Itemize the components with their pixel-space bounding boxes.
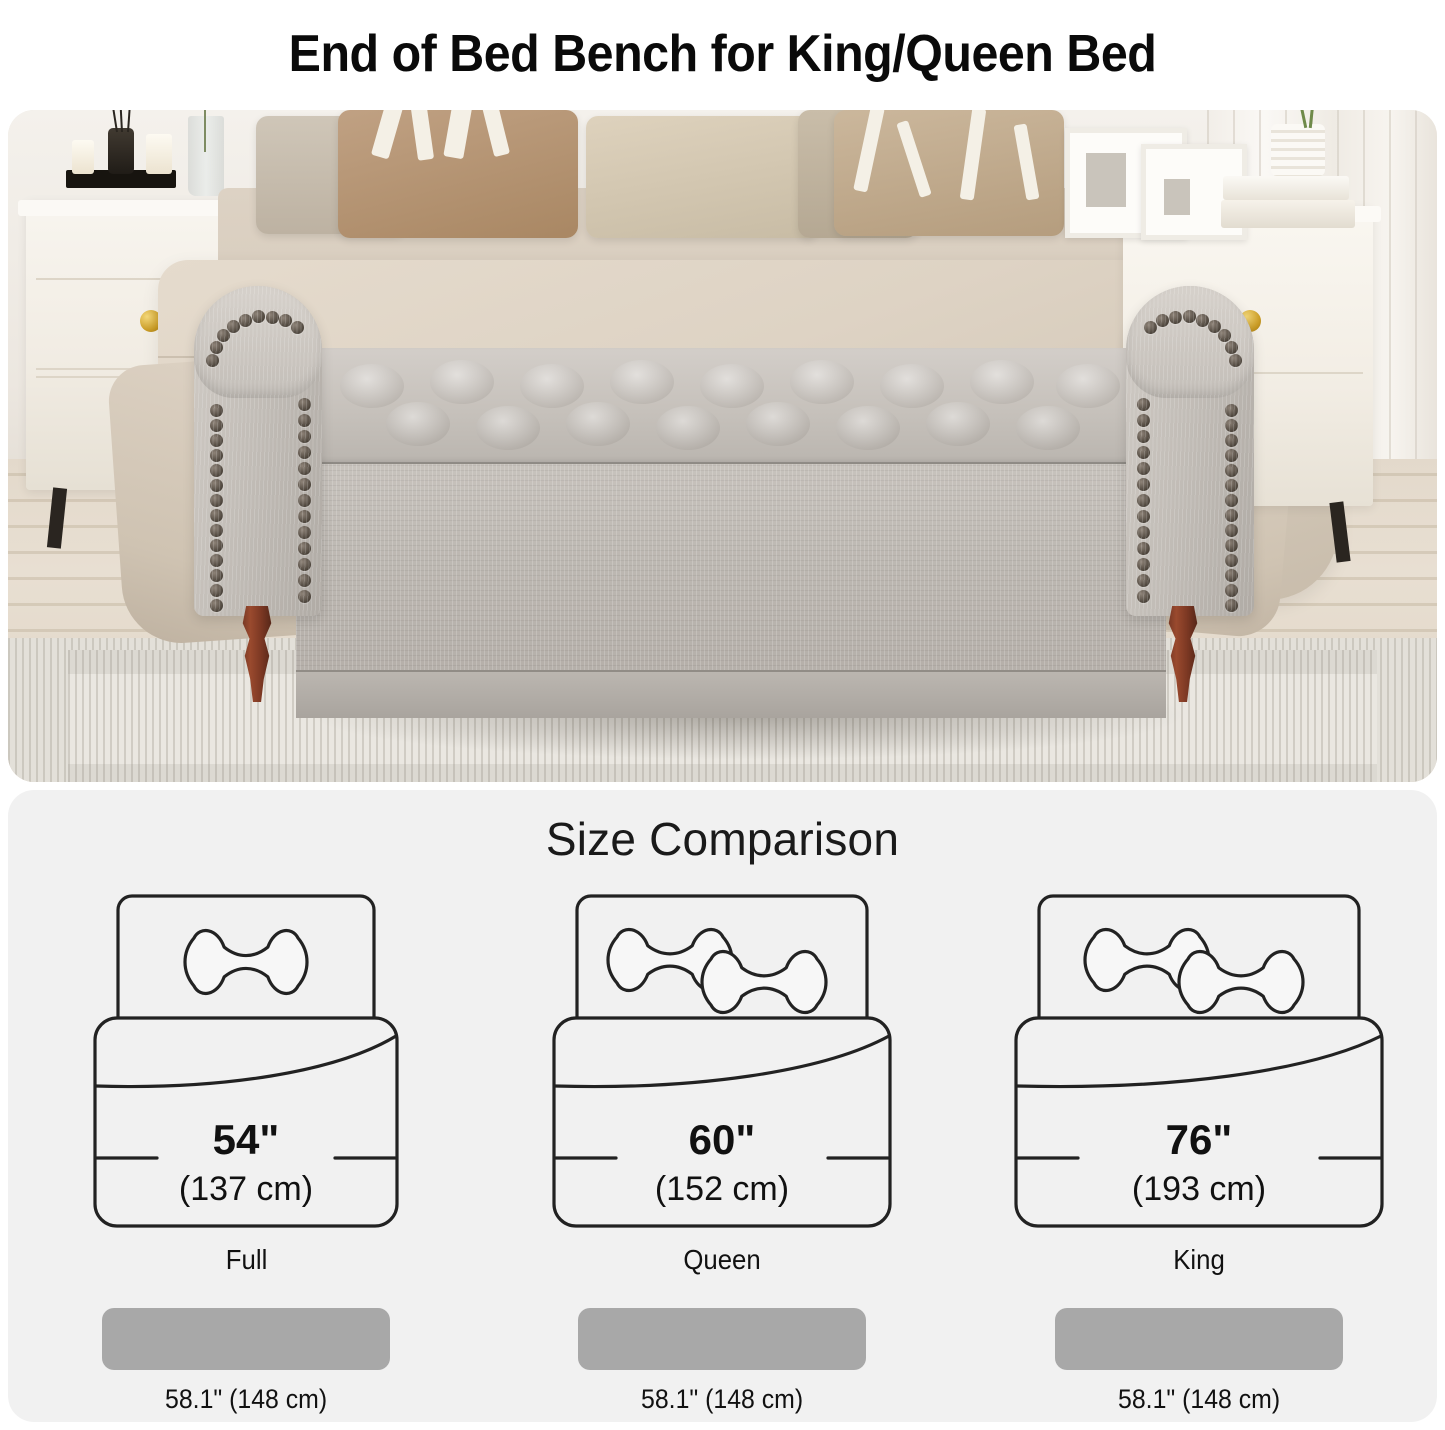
nailhead-stud-icon bbox=[1137, 542, 1150, 555]
candle-small bbox=[72, 140, 94, 174]
nailhead-stud-icon bbox=[1137, 526, 1150, 539]
tuft-12 bbox=[566, 402, 630, 446]
nailhead-stud-icon bbox=[1225, 419, 1238, 432]
branch-pattern-3 bbox=[960, 110, 987, 201]
nailhead-stud-icon bbox=[210, 509, 223, 522]
nailhead-stud-icon bbox=[298, 526, 311, 539]
bench-width-bar bbox=[102, 1308, 390, 1370]
tuft-5 bbox=[700, 364, 764, 408]
nailhead-stud-icon bbox=[298, 590, 311, 603]
size-comparison-panel: Size Comparison 54"(137 cm)Full58.1" (14… bbox=[8, 790, 1437, 1422]
nailhead-stud-icon bbox=[291, 321, 304, 334]
nailhead-stud-icon bbox=[279, 314, 292, 327]
tuft-8 bbox=[970, 360, 1034, 404]
nailhead-stud-icon bbox=[239, 314, 252, 327]
bed-width-inches: 76" bbox=[1165, 1116, 1232, 1163]
nailhead-stud-icon bbox=[1225, 404, 1238, 417]
bed-size-label: Full bbox=[225, 1244, 267, 1276]
tuft-16 bbox=[926, 402, 990, 446]
bench-bottom-rail bbox=[296, 670, 1166, 718]
nailhead-stud-icon bbox=[210, 599, 223, 612]
pillow-pattern-1 bbox=[371, 110, 403, 159]
nailhead-stud-icon bbox=[210, 524, 223, 537]
frame-art-2 bbox=[1164, 179, 1190, 215]
bed-comparison-columns: 54"(137 cm)Full58.1" (148 cm)60"(152 cm)… bbox=[8, 890, 1437, 1415]
nailhead-stud-icon bbox=[1208, 320, 1221, 333]
pillow-pattern-3 bbox=[443, 110, 472, 159]
tuft-10 bbox=[386, 402, 450, 446]
tuft-7 bbox=[880, 364, 944, 408]
branch-pattern-1 bbox=[853, 110, 885, 193]
bench-width-bar bbox=[578, 1308, 866, 1370]
nailhead-stud-icon bbox=[1225, 449, 1238, 462]
branch-pattern-4 bbox=[1014, 123, 1040, 200]
nailhead-stud-icon bbox=[210, 584, 223, 597]
bed-width-inches: 60" bbox=[689, 1116, 756, 1163]
bed-diagram: 54"(137 cm) bbox=[85, 890, 407, 1238]
nailhead-stud-icon bbox=[227, 320, 240, 333]
bed-width-cm: (137 cm) bbox=[179, 1170, 313, 1208]
nailhead-stud-icon bbox=[1218, 329, 1231, 342]
nailhead-stud-icon bbox=[298, 558, 311, 571]
nailhead-stud-icon bbox=[1196, 314, 1209, 327]
nailhead-stud-icon bbox=[210, 494, 223, 507]
tuft-1 bbox=[340, 364, 404, 408]
nailhead-stud-icon bbox=[1137, 574, 1150, 587]
bench-width-caption: 58.1" (148 cm) bbox=[641, 1384, 803, 1415]
nailhead-stud-icon bbox=[298, 446, 311, 459]
pillow-patterned-antler bbox=[338, 110, 578, 238]
nailhead-stud-icon bbox=[1225, 479, 1238, 492]
nailhead-stud-icon bbox=[1137, 590, 1150, 603]
bench-tufted-lid bbox=[300, 348, 1162, 464]
frame-art-1 bbox=[1086, 153, 1126, 207]
nailhead-stud-icon bbox=[1225, 584, 1238, 597]
tuft-9 bbox=[1056, 364, 1120, 408]
bed-size-column-king: 76"(193 cm)King58.1" (148 cm) bbox=[999, 890, 1399, 1415]
nailhead-stud-icon bbox=[210, 539, 223, 552]
nailhead-stud-icon bbox=[298, 478, 311, 491]
bed-width-inches: 54" bbox=[213, 1116, 280, 1163]
bench-arm-left bbox=[194, 286, 322, 616]
nailhead-stud-icon bbox=[252, 310, 265, 323]
nailhead-stud-icon bbox=[1137, 494, 1150, 507]
ribbed-vase bbox=[1271, 124, 1325, 176]
nailhead-stud-icon bbox=[1225, 509, 1238, 522]
nailhead-stud-icon bbox=[1137, 558, 1150, 571]
nailhead-stud-icon bbox=[298, 542, 311, 555]
decor-box-top bbox=[1223, 176, 1349, 200]
nailhead-stud-icon bbox=[1169, 311, 1182, 324]
tuft-11 bbox=[476, 406, 540, 450]
plant-stem bbox=[204, 110, 206, 152]
pillow-center-beige bbox=[586, 116, 818, 238]
nailhead-stud-icon bbox=[206, 354, 219, 367]
tuft-2 bbox=[430, 360, 494, 404]
nailhead-stud-icon bbox=[217, 329, 230, 342]
branch-pattern-2 bbox=[896, 120, 932, 198]
tuft-14 bbox=[746, 402, 810, 446]
nailhead-stud-icon bbox=[298, 414, 311, 427]
bed-size-label: King bbox=[1173, 1244, 1225, 1276]
nailhead-stud-icon bbox=[1225, 434, 1238, 447]
reed-diffuser bbox=[108, 128, 134, 174]
nailhead-stud-icon bbox=[1225, 524, 1238, 537]
bench-width-caption: 58.1" (148 cm) bbox=[1118, 1384, 1280, 1415]
nailhead-stud-icon bbox=[298, 510, 311, 523]
tuft-3 bbox=[520, 364, 584, 408]
nailhead-stud-icon bbox=[210, 341, 223, 354]
nailhead-stud-icon bbox=[1225, 569, 1238, 582]
nailhead-stud-icon bbox=[1225, 464, 1238, 477]
nailhead-stud-icon bbox=[1225, 554, 1238, 567]
pillow-patterned-branch bbox=[834, 110, 1064, 236]
bed-width-cm: (193 cm) bbox=[1132, 1170, 1266, 1208]
nailhead-stud-icon bbox=[298, 494, 311, 507]
nailhead-stud-icon bbox=[298, 574, 311, 587]
tuft-15 bbox=[836, 406, 900, 450]
nailhead-stud-icon bbox=[210, 479, 223, 492]
nailhead-stud-icon bbox=[1137, 446, 1150, 459]
bench-arm-right bbox=[1126, 286, 1254, 616]
tuft-17 bbox=[1016, 406, 1080, 450]
nailhead-stud-icon bbox=[1137, 478, 1150, 491]
nailhead-stud-icon bbox=[1137, 510, 1150, 523]
lid-seam bbox=[300, 462, 1162, 464]
rug-band-bottom bbox=[68, 764, 1377, 782]
bed-diagram: 76"(193 cm) bbox=[1006, 890, 1392, 1238]
bed-width-cm: (152 cm) bbox=[655, 1170, 789, 1208]
nailhead-stud-icon bbox=[1225, 539, 1238, 552]
candle-large bbox=[146, 134, 172, 174]
nailhead-stud-icon bbox=[298, 462, 311, 475]
nailhead-stud-icon bbox=[298, 430, 311, 443]
nailhead-stud-icon bbox=[210, 419, 223, 432]
product-photo bbox=[8, 110, 1437, 782]
bed-size-label: Queen bbox=[684, 1244, 761, 1276]
nailhead-stud-icon bbox=[298, 398, 311, 411]
tuft-13 bbox=[656, 406, 720, 450]
decor-box-bottom bbox=[1221, 200, 1355, 228]
nailhead-stud-icon bbox=[1225, 341, 1238, 354]
page-title: End of Bed Bench for King/Queen Bed bbox=[289, 28, 1157, 80]
nailhead-stud-icon bbox=[1137, 462, 1150, 475]
page-header: End of Bed Bench for King/Queen Bed bbox=[0, 0, 1445, 108]
nailhead-stud-icon bbox=[210, 404, 223, 417]
nailhead-stud-icon bbox=[210, 449, 223, 462]
nailhead-stud-icon bbox=[266, 311, 279, 324]
nailhead-stud-icon bbox=[1225, 599, 1238, 612]
nailhead-stud-icon bbox=[1225, 494, 1238, 507]
nailhead-stud-icon bbox=[1137, 414, 1150, 427]
nailhead-stud-icon bbox=[210, 569, 223, 582]
bed-diagram: 60"(152 cm) bbox=[544, 890, 900, 1238]
nailhead-stud-icon bbox=[1156, 314, 1169, 327]
pillow-pattern-2 bbox=[410, 110, 434, 161]
nailhead-stud-icon bbox=[1137, 398, 1150, 411]
nailhead-stud-icon bbox=[1183, 310, 1196, 323]
bench-width-caption: 58.1" (148 cm) bbox=[165, 1384, 327, 1415]
glass-vase bbox=[188, 116, 224, 196]
nailhead-stud-icon bbox=[210, 434, 223, 447]
bed-size-column-full: 54"(137 cm)Full58.1" (148 cm) bbox=[46, 890, 446, 1415]
nailhead-stud-icon bbox=[1137, 430, 1150, 443]
bench-width-bar bbox=[1055, 1308, 1343, 1370]
nailhead-stud-icon bbox=[210, 464, 223, 477]
tuft-6 bbox=[790, 360, 854, 404]
nailhead-stud-icon bbox=[1229, 354, 1242, 367]
size-comparison-title: Size Comparison bbox=[8, 812, 1437, 866]
bed-size-column-queen: 60"(152 cm)Queen58.1" (148 cm) bbox=[522, 890, 922, 1415]
pillow-pattern-4 bbox=[482, 110, 510, 157]
tuft-4 bbox=[610, 360, 674, 404]
nailhead-stud-icon bbox=[210, 554, 223, 567]
nailhead-stud-icon bbox=[1144, 321, 1157, 334]
